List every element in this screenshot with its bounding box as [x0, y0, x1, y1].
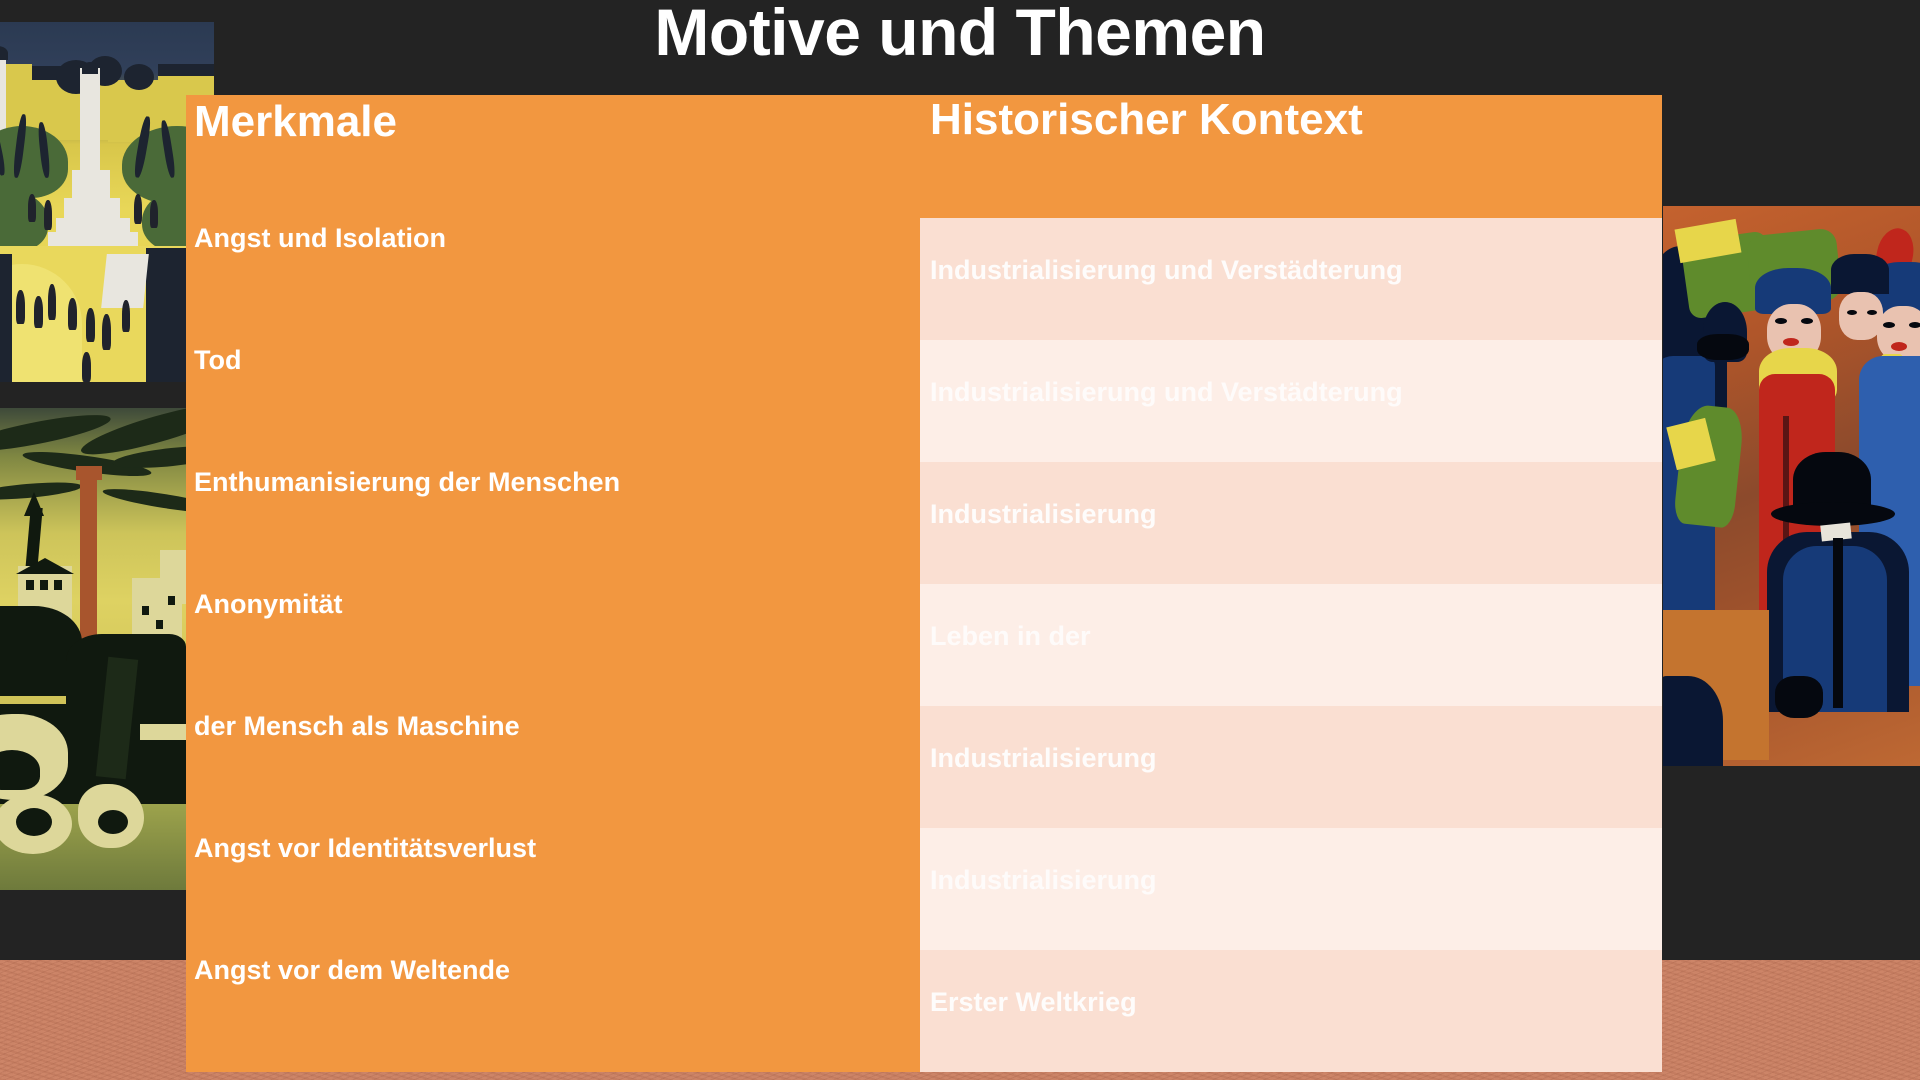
kontext-label: Industrialisierung und Verstädterung: [930, 378, 1403, 408]
cell-merkmal: Tod: [186, 340, 920, 462]
table-row: Angst vor dem Weltende Erster Weltkrieg: [186, 950, 1662, 1072]
slide-canvas: Motive und Themen Merkmale Historischer …: [0, 0, 1920, 1080]
column-header-merkmale-label: Merkmale: [194, 99, 397, 145]
merkmal-label: Angst vor Identitätsverlust: [194, 834, 536, 864]
kontext-label: Industrialisierung: [930, 744, 1157, 774]
column-header-historischer-kontext: Historischer Kontext: [920, 95, 1662, 218]
cell-merkmal: Angst vor Identitätsverlust: [186, 828, 920, 950]
cell-kontext: Industrialisierung: [920, 828, 1662, 950]
cell-merkmal: Angst vor dem Weltende: [186, 950, 920, 1072]
column-header-merkmale: Merkmale: [186, 95, 920, 218]
painting-canvas: [1663, 206, 1920, 766]
merkmal-label: Angst und Isolation: [194, 224, 446, 254]
expressionist-city-square-painting: [0, 22, 214, 382]
merkmal-label: Enthumanisierung der Menschen: [194, 468, 620, 498]
table-header-row: Merkmale Historischer Kontext: [186, 95, 1662, 218]
cell-kontext: Industrialisierung: [920, 706, 1662, 828]
cell-kontext: Industrialisierung und Verstädterung: [920, 340, 1662, 462]
kontext-label: Leben in der: [930, 622, 1091, 652]
kontext-label: Industrialisierung: [930, 866, 1157, 896]
cell-merkmal: Anonymität: [186, 584, 920, 706]
merkmal-label: Angst vor dem Weltende: [194, 956, 510, 986]
table-row: Enthumanisierung der Menschen Industrial…: [186, 462, 1662, 584]
cell-merkmal: Enthumanisierung der Menschen: [186, 462, 920, 584]
table-row: Tod Industrialisierung und Verstädterung: [186, 340, 1662, 462]
cell-kontext: Leben in der: [920, 584, 1662, 706]
page-title: Motive und Themen: [0, 0, 1920, 70]
kontext-label: Erster Weltkrieg: [930, 988, 1137, 1018]
kontext-label: Industrialisierung: [930, 500, 1157, 530]
painting-canvas: [0, 22, 214, 382]
expressionist-dark-town-painting: [0, 408, 214, 890]
table-row: der Mensch als Maschine Industrialisieru…: [186, 706, 1662, 828]
merkmal-label: Anonymität: [194, 590, 343, 620]
table-row: Angst und Isolation Industrialisierung u…: [186, 218, 1662, 340]
expressionist-street-scene-painting: [1663, 206, 1920, 766]
table-row: Anonymität Leben in der: [186, 584, 1662, 706]
column-header-historischer-kontext-label: Historischer Kontext: [930, 97, 1363, 143]
painting-canvas: [0, 408, 214, 890]
table-row: Angst vor Identitätsverlust Industrialis…: [186, 828, 1662, 950]
merkmal-label: der Mensch als Maschine: [194, 712, 520, 742]
cell-kontext: Industrialisierung und Verstädterung: [920, 218, 1662, 340]
cell-kontext: Erster Weltkrieg: [920, 950, 1662, 1072]
cell-merkmal: Angst und Isolation: [186, 218, 920, 340]
motive-und-themen-table: Merkmale Historischer Kontext Angst und …: [186, 95, 1662, 1072]
merkmal-label: Tod: [194, 346, 241, 376]
cell-merkmal: der Mensch als Maschine: [186, 706, 920, 828]
kontext-label: Industrialisierung und Verstädterung: [930, 256, 1403, 286]
cell-kontext: Industrialisierung: [920, 462, 1662, 584]
